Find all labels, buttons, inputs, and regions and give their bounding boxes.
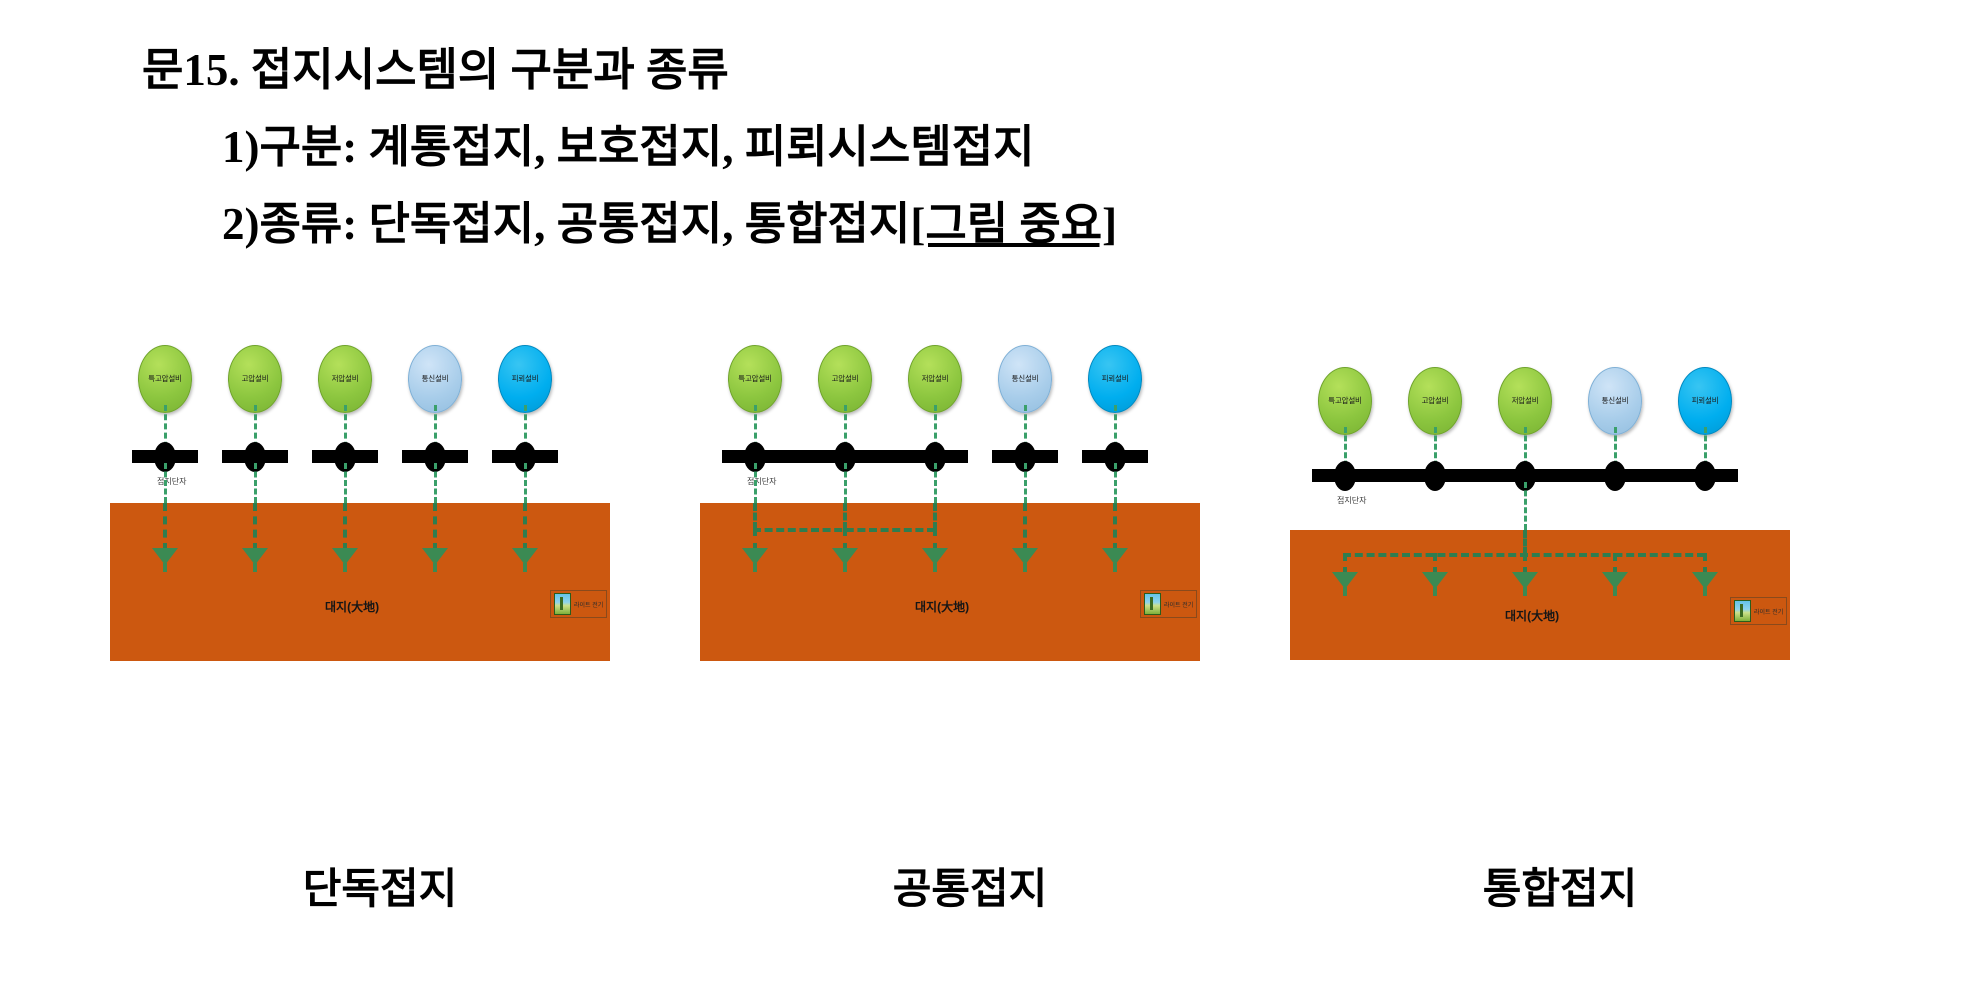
electrode-riser-center: [1523, 530, 1527, 555]
heading-line-3-emphasis: [그림 중요]: [910, 199, 1117, 249]
terminal-node-5: [1694, 461, 1716, 491]
lead-wire-down-1: [164, 463, 167, 503]
equipment-ellipse-5: 피뢰설비: [1088, 345, 1142, 413]
diagram-single-ground: 특고압설비 고압설비 저압설비 통신설비 피뢰설비 접지단자: [110, 345, 650, 845]
lead-wire-down-5: [1114, 463, 1117, 503]
equipment-ellipse-1: 특고압설비: [1318, 367, 1372, 435]
credit-label: 라이트 전기: [1754, 607, 1783, 616]
lead-wire-down-4: [1024, 463, 1027, 503]
lead-wire-down-2: [844, 463, 847, 503]
equipment-ellipse-5: 피뢰설비: [498, 345, 552, 413]
credit-badge: 라이트 전기: [1730, 597, 1787, 625]
lead-wire-down-4: [434, 463, 437, 503]
earth-label: 대지(大地): [1505, 607, 1559, 624]
credit-thumbnail-icon: [1734, 600, 1751, 622]
heading-line-1: 문15. 접지시스템의 구분과 종류: [142, 48, 1961, 93]
electrode-drop-5: [1113, 503, 1117, 551]
caption-common-ground: 공통접지: [700, 855, 1240, 916]
electrode-drop-5: [523, 503, 527, 551]
electrode-riser-1: [753, 503, 757, 530]
terminal-label: 접지단자: [747, 476, 776, 487]
heading-line-3-main: 2)종류: 단독접지, 공통접지, 통합접지: [222, 199, 910, 249]
equipment-ellipse-4: 통신설비: [998, 345, 1052, 413]
equipment-ellipse-4: 통신설비: [408, 345, 462, 413]
lead-wire-down-3: [934, 463, 937, 503]
terminal-node-4: [1604, 461, 1626, 491]
equipment-ellipse-1: 특고압설비: [728, 345, 782, 413]
heading-line-3: 2)종류: 단독접지, 공통접지, 통합접지[그림 중요]: [222, 202, 1961, 247]
credit-label: 라이트 전기: [574, 600, 603, 609]
equipment-ellipse-2: 고압설비: [228, 345, 282, 413]
lead-wire-down-1: [754, 463, 757, 503]
electrode-riser-2: [843, 503, 847, 530]
credit-label: 라이트 전기: [1164, 600, 1193, 609]
electrode-riser-3: [933, 503, 937, 530]
diagram-common-ground: 특고압설비 고압설비 저압설비 통신설비 피뢰설비 접지단자: [700, 345, 1240, 845]
equipment-ellipse-2: 고압설비: [818, 345, 872, 413]
electrode-drop-1: [163, 503, 167, 551]
credit-thumbnail-icon: [1144, 593, 1161, 615]
lead-wire-down-5: [524, 463, 527, 503]
electrode-drop-3: [343, 503, 347, 551]
credit-badge: 라이트 전기: [550, 590, 607, 618]
terminal-label: 접지단자: [1337, 495, 1366, 506]
terminal-label: 접지단자: [157, 476, 186, 487]
earth-block: [700, 503, 1200, 661]
equipment-ellipse-3: 저압설비: [1498, 367, 1552, 435]
credit-badge: 라이트 전기: [1140, 590, 1197, 618]
earth-block: [1290, 530, 1790, 660]
terminal-node-2: [1424, 461, 1446, 491]
lead-wire-down-3: [344, 463, 347, 503]
credit-thumbnail-icon: [554, 593, 571, 615]
equipment-ellipse-1: 특고압설비: [138, 345, 192, 413]
heading-block: 문15. 접지시스템의 구분과 종류 1)구분: 계통접지, 보호접지, 피뢰시…: [0, 0, 1961, 247]
equipment-ellipse-3: 저압설비: [908, 345, 962, 413]
lead-wire-down-center: [1524, 482, 1527, 530]
electrode-drop-4: [433, 503, 437, 551]
earth-block: [110, 503, 610, 661]
equipment-ellipse-3: 저압설비: [318, 345, 372, 413]
electrode-drop-4: [1023, 503, 1027, 551]
electrode-drop-2: [253, 503, 257, 551]
terminal-node-1: [1334, 461, 1356, 491]
earth-label: 대지(大地): [325, 598, 379, 615]
caption-integrated-ground: 통합접지: [1290, 855, 1830, 916]
equipment-ellipse-2: 고압설비: [1408, 367, 1462, 435]
diagram-area: 특고압설비 고압설비 저압설비 통신설비 피뢰설비 접지단자: [0, 345, 1961, 845]
diagram-integrated-ground: 특고압설비 고압설비 저압설비 통신설비 피뢰설비 접지단자: [1290, 345, 1830, 845]
earth-label: 대지(大地): [915, 598, 969, 615]
lead-wire-down-2: [254, 463, 257, 503]
heading-line-2: 1)구분: 계통접지, 보호접지, 피뢰시스템접지: [222, 125, 1961, 170]
equipment-ellipse-4: 통신설비: [1588, 367, 1642, 435]
caption-single-ground: 단독접지: [110, 855, 650, 916]
equipment-ellipse-5: 피뢰설비: [1678, 367, 1732, 435]
